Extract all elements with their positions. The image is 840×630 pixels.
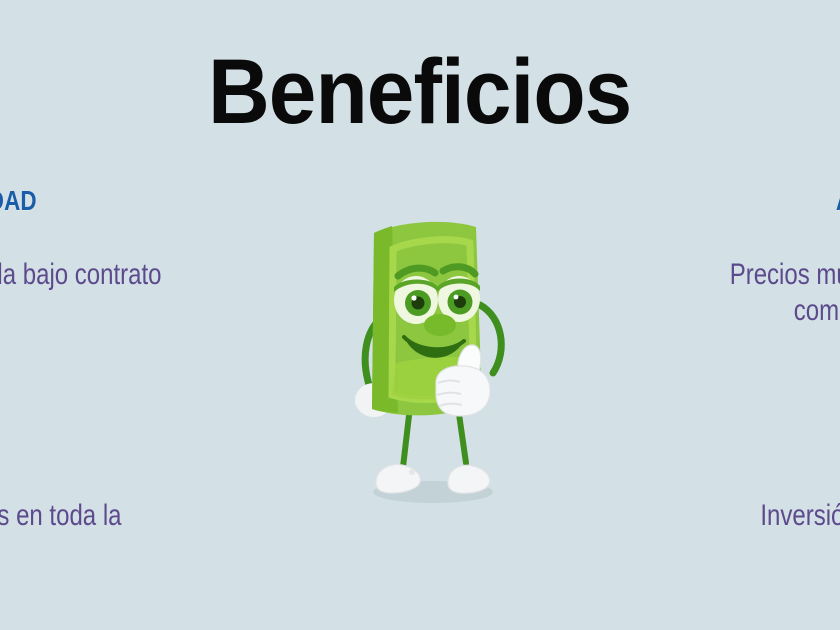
benefit-body-line: protegida bajo contrato <box>0 257 162 292</box>
benefit-body-line: Precios muy por de <box>729 257 840 292</box>
benefit-body-accesibilidad: Inversión acorde a <box>761 498 840 533</box>
slide-canvas: Beneficios EGURIDAD protegida bajo contr… <box>0 0 840 630</box>
benefit-heading-seguridad: EGURIDAD <box>0 186 162 215</box>
money-bill-character <box>330 195 530 515</box>
benefit-heading-accesibilidad: ACCESIB <box>761 441 840 470</box>
benefit-body-diversidad: sponibles en toda la epublica <box>0 498 122 569</box>
fist <box>436 366 490 416</box>
benefit-body-ahorro: Precios muy por de comerc <box>729 257 840 328</box>
eye-shine-left <box>411 295 416 300</box>
shoe-left-detail <box>409 469 415 475</box>
benefit-heading-diversidad: versidad <box>0 441 122 470</box>
benefit-body-line: comerc <box>729 293 840 328</box>
right-arm <box>480 305 501 373</box>
shoe-right <box>448 465 490 493</box>
nose <box>424 314 456 336</box>
benefit-body-line: sponibles en toda la <box>0 498 122 533</box>
benefit-accesibilidad: ACCESIB Inversión acorde a <box>711 441 840 534</box>
benefit-ahorro: AHORRO Precios muy por de comerc <box>678 186 840 328</box>
benefit-heading-ahorro: AHORRO <box>729 186 840 215</box>
eye-shine-right <box>454 295 459 300</box>
benefit-diversidad: versidad sponibles en toda la epublica <box>0 441 175 569</box>
benefit-body-line: Inversión acorde a <box>761 498 840 533</box>
page-title: Beneficios <box>29 46 810 138</box>
shoe-left <box>376 465 420 493</box>
left-leg <box>403 407 410 467</box>
benefit-seguridad: EGURIDAD protegida bajo contrato <box>0 186 223 293</box>
benefit-body-seguridad: protegida bajo contrato <box>0 257 162 292</box>
benefit-body-line: epublica <box>0 534 122 569</box>
